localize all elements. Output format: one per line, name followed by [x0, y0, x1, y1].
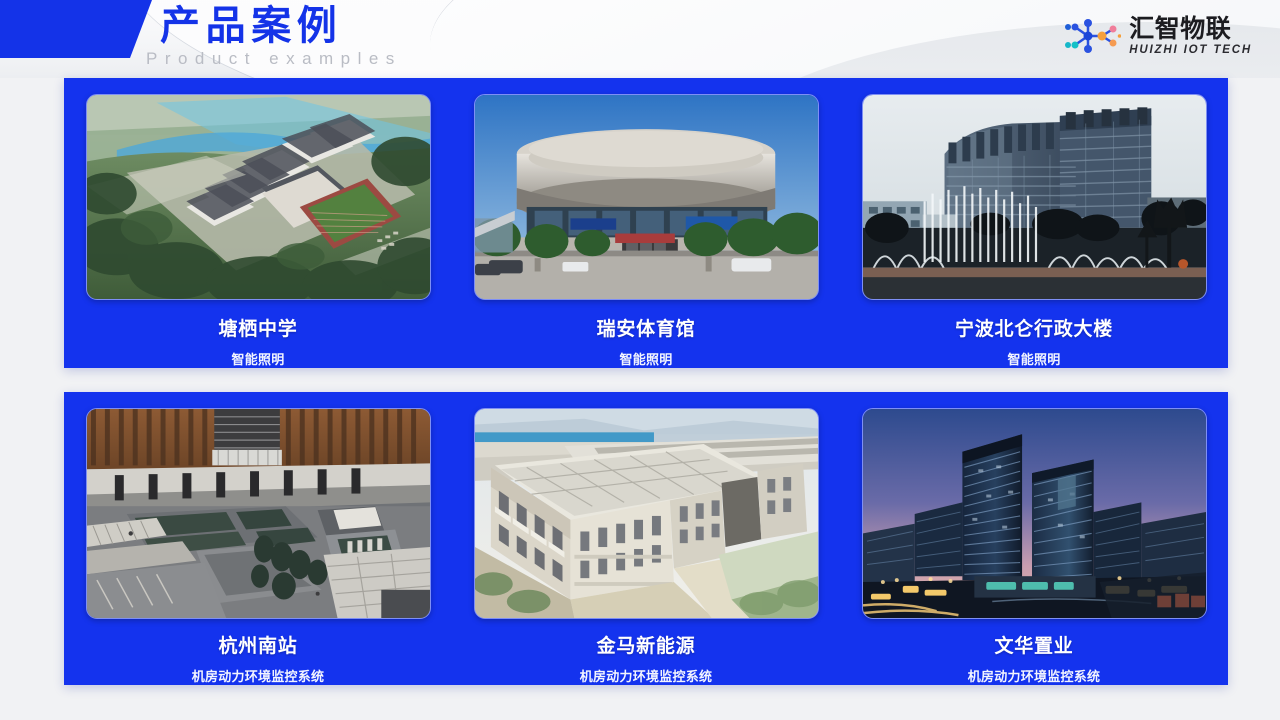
railway-station-rooftop-photo: [86, 408, 431, 619]
case-card-title: 瑞安体育馆: [597, 314, 696, 341]
case-card-title: 宁波北仑行政大楼: [955, 314, 1113, 341]
circular-stadium-photo: [474, 94, 819, 300]
case-panel-row-2: 杭州南站 机房动力环境监控系统: [64, 392, 1228, 685]
logo-name-cn: 汇智物联: [1129, 16, 1252, 41]
case-card-ruian-gymnasium[interactable]: 瑞安体育馆 智能照明: [452, 78, 840, 368]
case-card-tangqi-school[interactable]: 塘栖中学 智能照明: [64, 78, 452, 368]
twilight-city-towers-photo: [862, 408, 1207, 619]
molecule-network-icon: [1063, 16, 1121, 56]
page-subtitle: Product examples: [146, 49, 402, 69]
industrial-factory-aerial-photo: [474, 408, 819, 619]
slide-root: 产品案例 Product examples: [0, 0, 1280, 720]
case-card-subtitle: 智能照明: [619, 349, 672, 368]
case-card-jinma-new-energy[interactable]: 金马新能源 机房动力环境监控系统: [452, 392, 840, 685]
case-card-title: 杭州南站: [218, 631, 297, 658]
logo-name-en: HUIZHI IOT TECH: [1129, 45, 1252, 57]
case-card-title: 塘栖中学: [218, 314, 297, 341]
header-corner-accent-icon: [0, 0, 152, 58]
case-card-hangzhou-south-station[interactable]: 杭州南站 机房动力环境监控系统: [64, 392, 452, 685]
case-card-subtitle: 智能照明: [231, 349, 284, 368]
case-card-subtitle: 机房动力环境监控系统: [580, 666, 713, 685]
aerial-school-campus-photo: [86, 94, 431, 300]
case-card-wenhua-properties[interactable]: 文华置业 机房动力环境监控系统: [840, 392, 1228, 685]
case-card-title: 文华置业: [994, 631, 1073, 658]
page-title: 产品案例: [160, 4, 342, 48]
case-card-title: 金马新能源: [597, 631, 696, 658]
case-card-subtitle: 机房动力环境监控系统: [968, 666, 1101, 685]
office-building-fountain-photo: [862, 94, 1207, 300]
case-card-ningbo-beilun-admin[interactable]: 宁波北仑行政大楼 智能照明: [840, 78, 1228, 368]
page-header: 产品案例 Product examples: [0, 0, 1280, 78]
brand-logo[interactable]: 汇智物联 HUIZHI IOT TECH: [1063, 16, 1252, 57]
case-card-subtitle: 智能照明: [1007, 349, 1060, 368]
case-panel-row-1: 塘栖中学 智能照明: [64, 78, 1228, 368]
logo-text-block: 汇智物联 HUIZHI IOT TECH: [1129, 16, 1252, 57]
case-card-subtitle: 机房动力环境监控系统: [192, 666, 325, 685]
